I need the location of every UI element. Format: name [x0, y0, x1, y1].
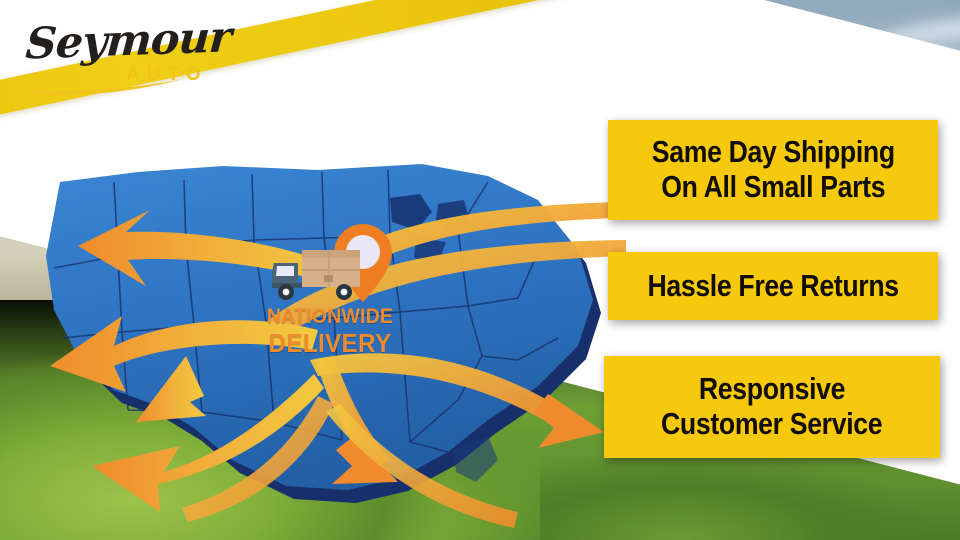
banner3-line1: Responsive [699, 372, 845, 407]
banner1-line2: On All Small Parts [661, 170, 885, 205]
brand-logo[interactable]: Seymour AUTO [18, 10, 248, 106]
banner3-line2: Customer Service [661, 407, 882, 442]
logo-wordmark: Seymour [24, 12, 233, 69]
caption-line-1: NATIONWIDE [260, 306, 400, 327]
delivery-truck-icon [268, 247, 366, 305]
banner-same-day-shipping[interactable]: Same Day Shipping On All Small Parts [608, 120, 938, 220]
logo-subtitle: AUTO [126, 64, 207, 86]
banner1-line1: Same Day Shipping [651, 135, 894, 170]
promo-banner-image: Seymour AUTO [0, 0, 960, 540]
caption-line-2: DELIVERY [260, 330, 400, 356]
banner-hassle-free-returns[interactable]: Hassle Free Returns [608, 252, 938, 320]
banner-responsive-customer-service[interactable]: Responsive Customer Service [604, 356, 940, 458]
nationwide-delivery-caption: NATIONWIDE DELIVERY [255, 306, 405, 356]
banner2-line1: Hassle Free Returns [647, 269, 898, 304]
